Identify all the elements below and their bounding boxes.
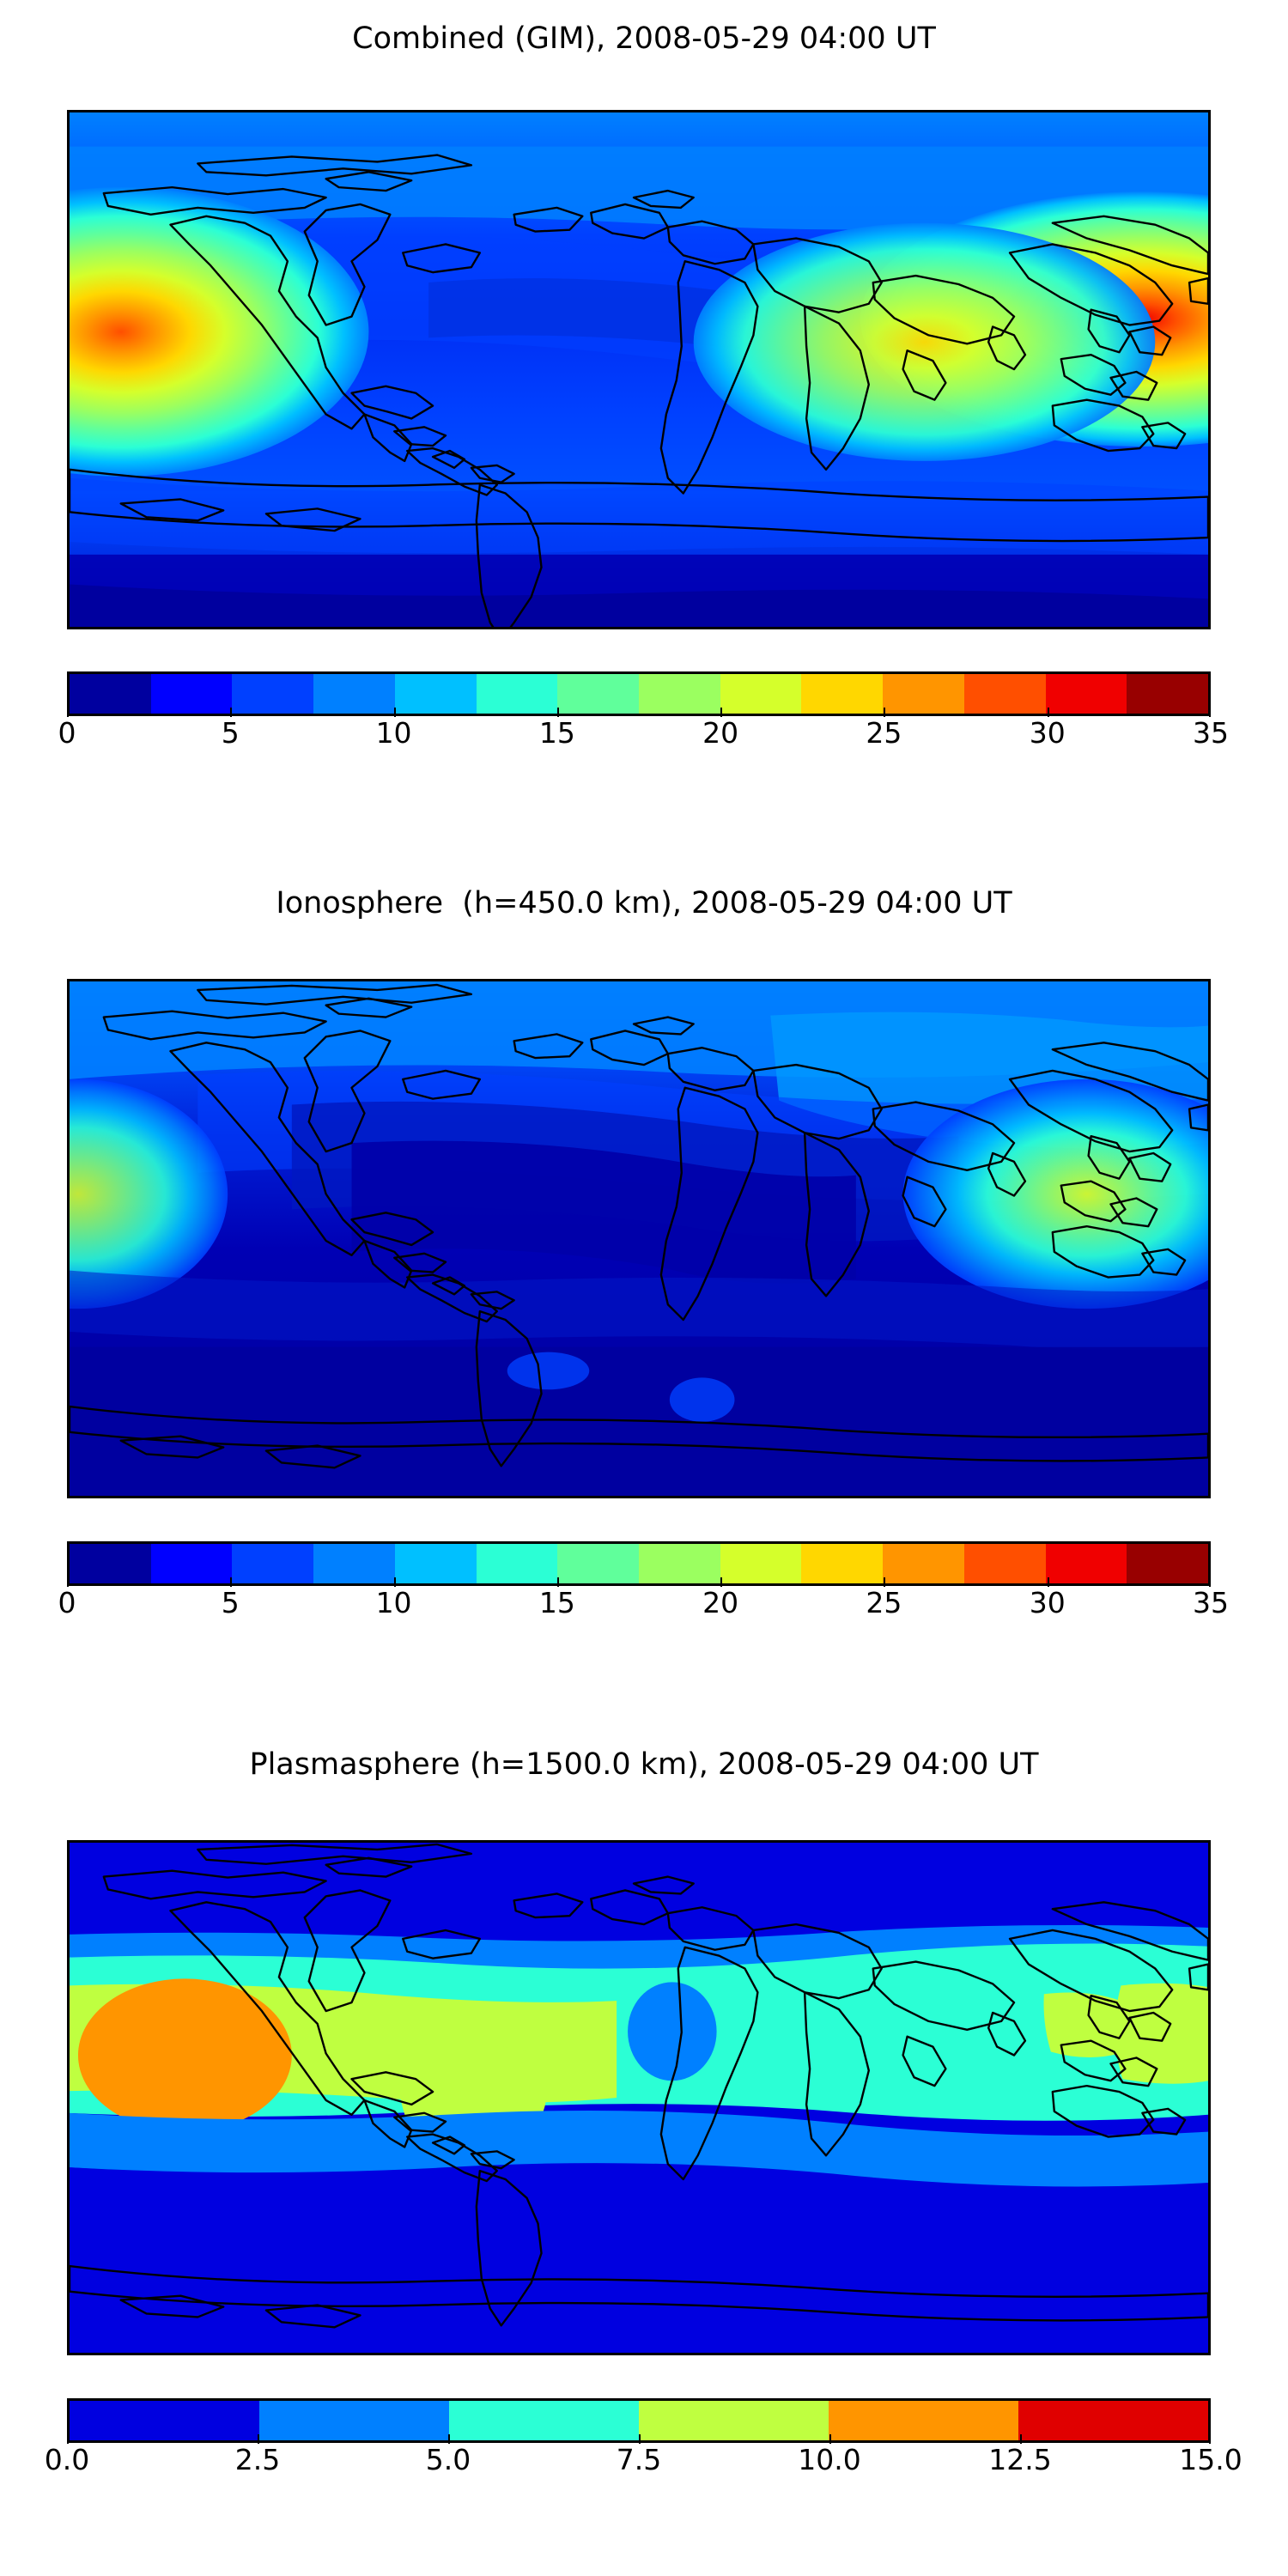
colorbar-tick-label: 35 xyxy=(1193,716,1229,750)
colorbar-segment xyxy=(829,2401,1018,2440)
colorbar-segment xyxy=(801,1544,883,1583)
colorbar-segment xyxy=(232,1544,313,1583)
colorbar-tick-label: 7.5 xyxy=(617,2443,661,2476)
colorbar-segment xyxy=(151,1544,233,1583)
colorbar-tick-label: 20 xyxy=(702,716,738,750)
colorbar-tick-label: 15 xyxy=(539,1586,575,1619)
colorbar-segment xyxy=(395,674,477,714)
colorbar-segment xyxy=(259,2401,449,2440)
colorbar-segment xyxy=(883,1544,964,1583)
colorbar-segment xyxy=(449,2401,639,2440)
colorbar-tick-label: 0 xyxy=(58,716,76,750)
colorbar-tick-label: 30 xyxy=(1030,716,1066,750)
colorbar-tick-label: 12.5 xyxy=(988,2443,1051,2476)
colorbar-tick-label: 10.0 xyxy=(798,2443,860,2476)
colorbar-segment xyxy=(1127,1544,1208,1583)
colorbar-segment xyxy=(801,674,883,714)
colorbar-tick-label: 15.0 xyxy=(1179,2443,1242,2476)
colorbar-tick-label: 0.0 xyxy=(45,2443,89,2476)
colorbar-tick-label: 0 xyxy=(58,1586,76,1619)
colorbar-ticks-ionosphere: 05101520253035 xyxy=(67,1586,1211,1625)
colorbar-segment xyxy=(964,674,1046,714)
colorbar-tick-label: 10 xyxy=(376,716,412,750)
colorbar-segment xyxy=(477,674,558,714)
colorbar-segment xyxy=(964,1544,1046,1583)
colorbar-segment xyxy=(151,674,233,714)
colorbar-segment xyxy=(639,1544,720,1583)
panel-ionosphere: Ionosphere (h=450.0 km), 2008-05-29 04:0… xyxy=(0,859,1288,1717)
colorbar-tick-label: 25 xyxy=(866,1586,902,1619)
panel-combined-gim: Combined (GIM), 2008-05-29 04:00 UT xyxy=(0,0,1288,859)
map-contour-ionosphere xyxy=(70,981,1208,1496)
colorbar-segment xyxy=(70,1544,151,1583)
map-contour-plasmasphere xyxy=(70,1843,1208,2353)
colorbar-strip-combined-gim xyxy=(67,671,1211,716)
colorbar-plasmasphere: 0.02.55.07.510.012.515.0 xyxy=(67,2398,1211,2482)
colorbar-segment xyxy=(720,1544,802,1583)
colorbar-segment xyxy=(313,674,395,714)
colorbar-strip-ionosphere xyxy=(67,1541,1211,1586)
colorbar-tick-label: 35 xyxy=(1193,1586,1229,1619)
colorbar-tick-label: 30 xyxy=(1030,1586,1066,1619)
panel-title-combined-gim: Combined (GIM), 2008-05-29 04:00 UT xyxy=(0,24,1288,54)
colorbar-segment xyxy=(557,1544,639,1583)
colorbar-segment xyxy=(313,1544,395,1583)
colorbar-segment xyxy=(1018,2401,1208,2440)
tec-figure: Combined (GIM), 2008-05-29 04:00 UT xyxy=(0,0,1288,2576)
panel-title-plasmasphere: Plasmasphere (h=1500.0 km), 2008-05-29 0… xyxy=(0,1750,1288,1780)
colorbar-tick-label: 15 xyxy=(539,716,575,750)
colorbar-segment xyxy=(883,674,964,714)
panel-title-ionosphere: Ionosphere (h=450.0 km), 2008-05-29 04:0… xyxy=(0,889,1288,919)
colorbar-tick-label: 10 xyxy=(376,1586,412,1619)
map-contour-combined-gim xyxy=(70,112,1208,627)
colorbar-segment xyxy=(70,674,151,714)
colorbar-segment xyxy=(1046,674,1127,714)
colorbar-tick-label: 5 xyxy=(222,1586,240,1619)
panel-plasmasphere: Plasmasphere (h=1500.0 km), 2008-05-29 0… xyxy=(0,1717,1288,2576)
colorbar-segment xyxy=(720,674,802,714)
colorbar-segment xyxy=(1127,674,1208,714)
map-axes-plasmasphere xyxy=(67,1840,1211,2355)
colorbar-ionosphere: 05101520253035 xyxy=(67,1541,1211,1625)
colorbar-tick-label: 25 xyxy=(866,716,902,750)
colorbar-segment xyxy=(232,674,313,714)
colorbar-combined-gim: 05101520253035 xyxy=(67,671,1211,756)
colorbar-ticks-combined-gim: 05101520253035 xyxy=(67,716,1211,756)
colorbar-segment xyxy=(70,2401,259,2440)
colorbar-segment xyxy=(557,674,639,714)
colorbar-tick-label: 5 xyxy=(222,716,240,750)
colorbar-ticks-plasmasphere: 0.02.55.07.510.012.515.0 xyxy=(67,2443,1211,2482)
colorbar-tick-label: 5.0 xyxy=(426,2443,471,2476)
colorbar-tick-label: 2.5 xyxy=(235,2443,280,2476)
colorbar-segment xyxy=(395,1544,477,1583)
map-axes-ionosphere xyxy=(67,979,1211,1498)
colorbar-segment xyxy=(639,674,720,714)
map-axes-combined-gim xyxy=(67,110,1211,629)
colorbar-segment xyxy=(477,1544,558,1583)
colorbar-segment xyxy=(1046,1544,1127,1583)
colorbar-tick-label: 20 xyxy=(702,1586,738,1619)
colorbar-segment xyxy=(639,2401,829,2440)
